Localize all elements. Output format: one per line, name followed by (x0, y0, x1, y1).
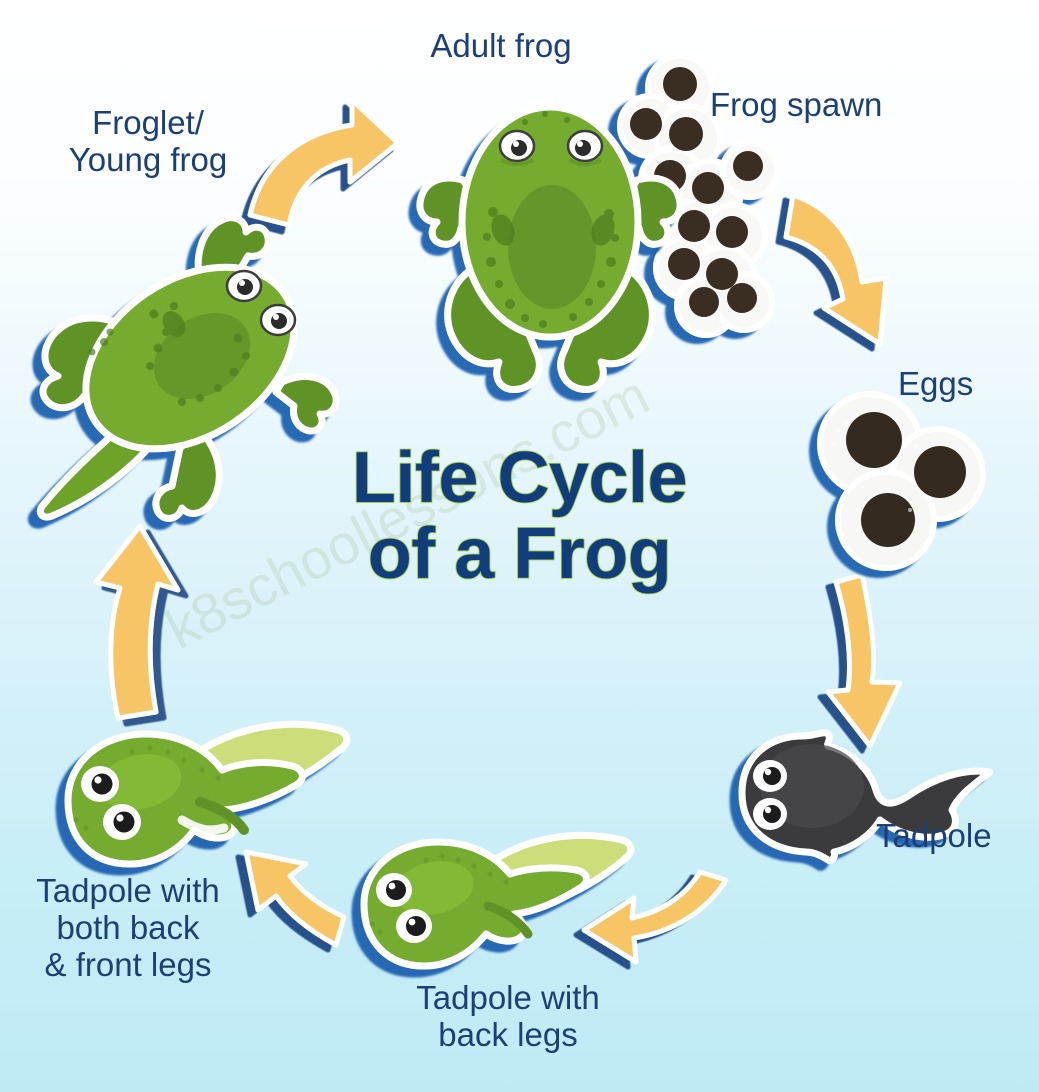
froglet-illustration (14, 186, 364, 526)
tadpole-both-legs-illustration (42, 716, 362, 886)
stage-label-tadpole: Tadpole (876, 818, 1036, 855)
life-cycle-diagram: k8schoollessons.com Life Cycle of a Frog… (0, 0, 1039, 1092)
arrow-spawn-to-eggs (786, 195, 886, 344)
stage-label-adult-frog: Adult frog (406, 28, 596, 65)
stage-label-froglet: Froglet/ Young frog (48, 105, 248, 179)
eggs-illustration (798, 392, 998, 572)
arrow-eggs-to-tadpole (828, 575, 900, 746)
arrow-both-legs-to-froglet (96, 526, 178, 718)
stage-label-eggs: Eggs (898, 366, 1008, 403)
stage-label-tadpole-back-legs: Tadpole with back legs (383, 980, 633, 1054)
tadpole-illustration (712, 728, 1012, 878)
tadpole-back-legs-illustration (338, 826, 648, 986)
adult-frog-illustration (395, 62, 705, 392)
stage-label-frog-spawn: Frog spawn (710, 87, 900, 124)
stage-label-tadpole-both-legs: Tadpole with both back & front legs (8, 873, 248, 984)
